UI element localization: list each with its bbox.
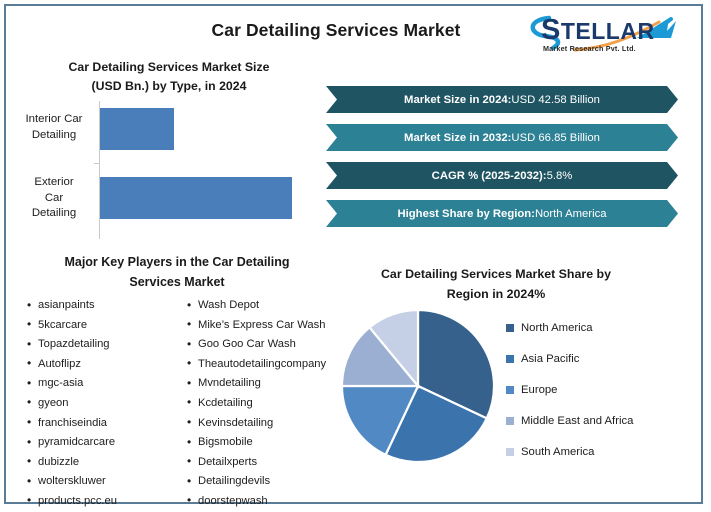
bar-rect-exterior [100,177,292,219]
list-item: Mike’s Express Car Wash [198,316,336,336]
list-item: dubizzle [38,453,176,473]
bar-label-exterior: ExteriorCarDetailing [14,175,94,222]
bar-chart-title: Car Detailing Services Market Size (USD … [28,58,310,96]
pie-chart-title: Car Detailing Services Market Share by R… [346,264,646,304]
list-item: Theautodetailingcompany [198,355,336,375]
legend-swatch-icon [506,324,514,332]
logo-initial: S [541,14,561,46]
legend-swatch-icon [506,448,514,456]
list-item: Bigsmobile [198,433,336,453]
list-item: pyramidcarcare [38,433,176,453]
banner-value: 5.8% [547,170,573,182]
bar-rect-interior [100,108,174,150]
key-players-title-line2: Services Market [129,275,224,289]
banner-cagr: CAGR % (2025-2032): 5.8% [326,162,678,189]
list-item: Mvndetailing [198,374,336,394]
banner-highest-share-region: Highest Share by Region: North America [326,200,678,227]
banner-value: North America [535,208,607,220]
pie-chart-title-line2: Region in 2024% [447,287,545,301]
list-item: mgc-asia [38,374,176,394]
pie-chart-legend: North America Asia Pacific Europe Middle… [506,312,696,467]
legend-label: Europe [521,384,557,396]
list-item: Topazdetailing [38,335,176,355]
list-item: franchiseindia [38,414,176,434]
banner-value: USD 66.85 Billion [511,132,600,144]
list-item: Detailxperts [198,453,336,473]
legend-item-north-america: North America [506,312,696,343]
legend-label: Asia Pacific [521,353,579,365]
key-players-title-line1: Major Key Players in the Car Detailing [64,255,289,269]
list-item: 5kcarcare [38,316,176,336]
key-players-columns: asianpaints 5kcarcare Topazdetailing Aut… [16,296,336,512]
legend-swatch-icon [506,355,514,363]
legend-label: Middle East and Africa [521,415,633,427]
list-item: Wash Depot [198,296,336,316]
list-item: doorstepwash [198,492,336,512]
list-item: Detailingdevils [198,472,336,492]
bar-chart-plot: Interior CarDetailing ExteriorCarDetaili… [14,101,324,239]
list-item: gyeon [38,394,176,414]
legend-swatch-icon [506,386,514,394]
bar-chart: Car Detailing Services Market Size (USD … [14,54,324,244]
bar-chart-axis-tick [94,163,99,164]
bar-chart-title-line2: (USD Bn.) by Type, in 2024 [92,79,247,93]
legend-label: South America [521,446,594,458]
page-title: Car Detailing Services Market [156,20,516,41]
key-players-title: Major Key Players in the Car Detailing S… [22,252,332,292]
legend-item-south-america: South America [506,436,696,467]
list-item: wolterskluwer [38,472,176,492]
pie-chart: Car Detailing Services Market Share by R… [336,264,696,504]
key-players-column-left: asianpaints 5kcarcare Topazdetailing Aut… [16,296,176,512]
banner-label: Highest Share by Region: [397,208,534,220]
banner-value: USD 42.58 Billion [511,94,600,106]
pie-chart-graphic [338,306,498,466]
legend-swatch-icon [506,417,514,425]
list-item: asianpaints [38,296,176,316]
key-players-column-right: Wash Depot Mike’s Express Car Wash Goo G… [176,296,336,512]
key-players-section: Major Key Players in the Car Detailing S… [16,249,336,504]
logo-subtitle: Market Research Pvt. Ltd. [543,44,636,53]
bar-label-interior: Interior CarDetailing [14,112,94,143]
list-item: products.pcc.eu [38,492,176,512]
legend-item-europe: Europe [506,374,696,405]
list-item: Kevinsdetailing [198,414,336,434]
logo-word-rest: TELLAR [561,18,655,44]
legend-label: North America [521,322,593,334]
banner-label: CAGR % (2025-2032): [432,170,547,182]
infographic-frame: Car Detailing Services Market STELLAR Ma… [4,4,703,504]
banner-market-size-2024: Market Size in 2024: USD 42.58 Billion [326,86,678,113]
legend-item-asia-pacific: Asia Pacific [506,343,696,374]
list-item: Autoflipz [38,355,176,375]
banner-label: Market Size in 2024: [404,94,511,106]
banner-label: Market Size in 2032: [404,132,511,144]
logo-wordmark: STELLAR [541,14,655,47]
banner-market-size-2032: Market Size in 2032: USD 66.85 Billion [326,124,678,151]
stellar-logo: STELLAR Market Research Pvt. Ltd. [519,12,689,60]
bar-chart-title-line1: Car Detailing Services Market Size [69,60,270,74]
pie-chart-title-line1: Car Detailing Services Market Share by [381,267,611,281]
list-item: Kcdetailing [198,394,336,414]
legend-item-middle-east-africa: Middle East and Africa [506,405,696,436]
list-item: Goo Goo Car Wash [198,335,336,355]
key-metrics-banners: Market Size in 2024: USD 42.58 Billion M… [326,86,678,238]
